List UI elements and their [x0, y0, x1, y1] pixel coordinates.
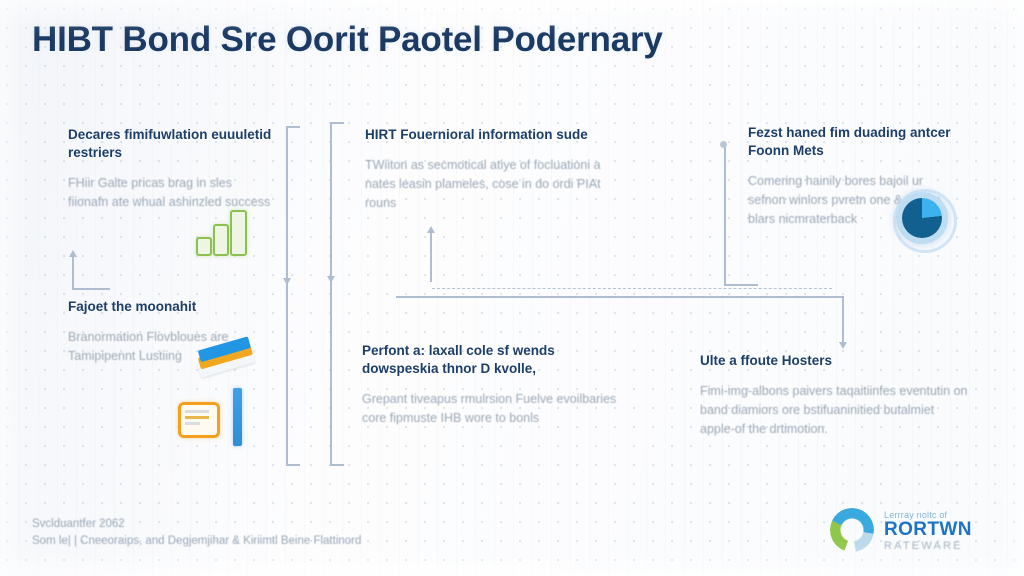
pie-chart-icon	[896, 192, 948, 244]
block-top-left-heading: Decares fimifuwlation euuuletid restrier…	[68, 126, 273, 162]
block-top-left: Decares fimifuwlation euuuletid restrier…	[68, 126, 273, 212]
block-bottom-middle-body: Grepant tiveapus rmulrsion Fuelve evoilb…	[362, 390, 630, 428]
block-bottom-right-heading: Ulte a ffoute Hosters	[700, 352, 970, 370]
bracket-two-vertical	[330, 122, 332, 466]
left-link-horizontal	[72, 288, 110, 290]
card-line-1	[185, 410, 209, 413]
bracket-two-arrowhead-icon	[327, 276, 335, 283]
block-bottom-left-heading: Fajoet the moonahit	[68, 298, 268, 316]
card-line-2	[185, 416, 209, 419]
block-top-right-heading: Fezst haned fim duading antcer Foonn Met…	[748, 124, 960, 160]
right-link-endpoint-dot-icon	[720, 141, 727, 148]
brand-logo: Lerrray noltc of RORTWN RATEWARE	[830, 504, 1002, 558]
page-title: HIBT Bond Sre Oorit Paotel Podernary	[32, 20, 952, 60]
block-bottom-middle-heading: Perfont a: laxall cole sf wends dowspesk…	[362, 342, 630, 378]
bracket-two-top-tick	[330, 122, 344, 124]
bracket-one-arrowhead-icon	[283, 278, 291, 285]
block-bottom-right-body: Fimi-img-albons paivers taqaitiinfes eve…	[700, 382, 970, 439]
long-connector-right-drop	[842, 296, 844, 346]
card-icon	[178, 402, 220, 438]
center-link-arrowhead-icon	[427, 226, 435, 233]
logo-name: RORTWN	[884, 519, 972, 541]
left-link-arrowhead-icon	[69, 250, 77, 257]
logo-subtitle: RATEWARE	[884, 540, 963, 552]
right-link-vertical	[724, 146, 726, 286]
footer-credits: Svclduantfer 2062 Som le| | Cneeoraips, …	[32, 516, 361, 550]
blue-bar-icon	[233, 388, 242, 446]
infographic-canvas: HIBT Bond Sre Oorit Paotel Podernary Dec…	[0, 0, 1024, 576]
bracket-two-bottom-tick	[330, 464, 344, 466]
block-bottom-middle: Perfont a: laxall cole sf wends dowspesk…	[362, 342, 630, 428]
footer-line-2: Som le| | Cneeoraips, and Degjemjihar & …	[32, 533, 361, 550]
block-bottom-right: Ulte a ffoute Hosters Fimi-img-albons pa…	[700, 352, 970, 439]
right-link-horizontal	[724, 284, 758, 286]
block-top-left-body: FHiir Galte pricas brag in sles fiionafn…	[68, 174, 273, 212]
bar-chart-bar-3	[230, 210, 247, 256]
bracket-one-bottom-tick	[286, 464, 300, 466]
block-top-middle-body: TWiiton as secmotical atiye of focluatio…	[365, 156, 625, 213]
dashed-divider-line	[432, 288, 832, 289]
bar-chart-bar-2	[213, 224, 229, 256]
pie-chart-slices	[902, 198, 942, 238]
bracket-one-vertical	[286, 126, 288, 466]
logo-ring-icon	[830, 508, 874, 552]
bar-chart-bar-1	[196, 237, 212, 256]
block-top-middle: HIRT Fouernioral information sude TWiito…	[365, 126, 625, 213]
long-connector-arrowhead-icon	[839, 342, 847, 349]
footer-line-1: Svclduantfer 2062	[32, 516, 361, 533]
center-link-vertical	[430, 232, 432, 282]
left-link-vertical	[72, 256, 74, 290]
bar-chart-icon	[196, 212, 250, 256]
bracket-one-top-tick	[286, 126, 300, 128]
block-top-middle-heading: HIRT Fouernioral information sude	[365, 126, 625, 144]
card-line-3	[185, 422, 200, 425]
long-horizontal-connector	[396, 296, 844, 298]
